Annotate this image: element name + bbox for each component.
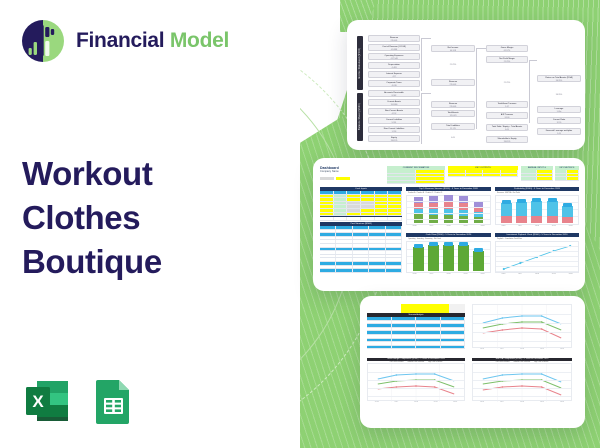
poster-canvas: Financial Model Workout Clothes Boutique… — [0, 0, 600, 448]
tree-node: Current Assets124,886 — [368, 99, 420, 106]
dashboard-chart-cash-flow: Cash Flow ($'000) - 5 Years to December … — [406, 233, 491, 275]
tree-node: Return on Total Assets (ROA)36.35% — [537, 75, 581, 82]
tree-ratio-value: 36.35% — [537, 92, 581, 97]
logo-svg — [20, 18, 66, 64]
page-title-line-3: Boutique — [22, 240, 162, 284]
tree-ratio-value: 21.76% — [486, 80, 528, 85]
dashboard-chart-investment-payback: Investment Payback Chart ($'000) - 5 Yea… — [495, 233, 579, 275]
tree-node: Total Debt / Equity + Total Assets0.09 — [486, 124, 528, 131]
tree-node: Revenue215,601 — [368, 35, 420, 42]
brand-logo: Financial Model — [20, 18, 229, 64]
page-title-line-2: Clothes — [22, 196, 162, 240]
tree-node: Total Assets129,078 — [431, 110, 475, 117]
tree-node: Interest Expense-227 — [368, 71, 420, 78]
tree-node: Revenue215,601 — [431, 79, 475, 86]
tree-band-income-statement: Income Statement ($'000) — [357, 36, 363, 90]
dashboard-panel-annual-inputs: ANNUAL INPUT & ASSUMPTIONS — [521, 166, 553, 181]
scenario-summary-table: Scenario Analysis — [367, 304, 465, 349]
preview-card-scenarios[interactable]: Scenario Analysis — [360, 296, 585, 428]
tree-node: Current Liabilities9,951 — [368, 117, 420, 124]
tree-ratio-value: 0.09 — [431, 135, 475, 140]
brand-name: Financial Model — [76, 29, 229, 53]
google-sheets-icon — [88, 376, 138, 426]
scenario-chart-revenue: 20162017 20182019 2020 — [472, 304, 572, 350]
brand-name-part2: Model — [170, 29, 229, 52]
tree-node: Gross Margin61.97% — [486, 45, 528, 52]
tree-node: Cost of Revenue (COGS)-81,988 — [368, 44, 420, 51]
tree-node: Leverage1.09x — [537, 106, 581, 113]
file-format-badges: X — [22, 376, 138, 426]
scenario-line-charts-screenshot: Scenario Analysis — [360, 296, 585, 428]
page-title: Workout Clothes Boutique — [22, 152, 162, 284]
svg-text:X: X — [32, 392, 44, 411]
tree-connector — [421, 93, 431, 144]
tree-node: Current Ratio12.55 — [537, 117, 581, 124]
tree-connector — [476, 48, 486, 129]
tree-node: A/R Turnover24.00 — [486, 112, 528, 119]
dashboard-panel-key-metrics: KEY METRICS — [555, 166, 579, 181]
tree-band-balance-sheet: Balance Sheet ($'000) — [357, 93, 363, 141]
financial-model-circle-chart-logo — [20, 18, 66, 64]
tree-node: Financial Leverage multiplier1.09 — [537, 128, 581, 135]
scenario-chart-ebitda: EBITDA Comparison ($'000) - 5 Years to D… — [472, 358, 572, 403]
tree-node: Total Liabilities11,175 — [431, 123, 475, 130]
tree-node: Shareholder's Equity118,235 — [486, 136, 528, 143]
tree-ratio-value: 21.76% — [431, 62, 475, 67]
dashboard-panel-key-outputs: KEY OUTPUTS — [448, 166, 518, 177]
tree-connector — [529, 60, 537, 123]
brand-name-part1: Financial — [76, 29, 170, 52]
financial-dashboard-screenshot: Dashboard Company Name CURRENT INFORMATI… — [313, 158, 585, 291]
dashboard-table-cash-inputs: Cash Inputs — [320, 187, 402, 221]
preview-card-dashboard[interactable]: Dashboard Company Name CURRENT INFORMATI… — [313, 158, 585, 291]
dashboard-chart-revenue-streams: Top 5 Revenue Streams ($'000) - 5 Years … — [406, 187, 491, 227]
tree-node: Total Asset Turnover1.67 — [486, 101, 528, 108]
dupont-analysis-tree-screenshot: Income Statement ($'000) Balance Sheet (… — [347, 20, 585, 150]
dashboard-chart-profitability: Profitability ($'000) - 5 Years to Decem… — [495, 187, 579, 227]
preview-card-dupont-tree[interactable]: Income Statement ($'000) Balance Sheet (… — [347, 20, 585, 150]
tree-node: Operating Expenses-117,548 — [368, 53, 420, 60]
tree-connector — [421, 38, 431, 91]
tree-node: Equity118,235 — [368, 135, 420, 142]
dashboard-table-cost-structure: Cost Structure ($'000) — [320, 222, 402, 273]
dashboard-panel-current-info: CURRENT INFORMATION — [387, 166, 445, 184]
tree-node: Net Income46,918 — [431, 45, 475, 52]
tree-node: Non-Current Liabilities1,224 — [368, 126, 420, 133]
scenario-chart-gross-margin: Gross Margin Comparison ($'000) - 5 Year… — [367, 358, 465, 403]
tree-node: Revenue215,601 — [431, 101, 475, 108]
tree-node: Non-Current Assets4,192 — [368, 108, 420, 115]
tree-node: Corporate Taxes-3,039 — [368, 80, 420, 87]
tree-node: Depreciation-1,481 — [368, 62, 420, 69]
excel-icon: X — [22, 376, 72, 426]
tree-node: Net Profit Margin21.76% — [486, 56, 528, 63]
dashboard-title-block: Dashboard Company Name — [320, 166, 380, 180]
tree-node: Accounts Receivable8,982 — [368, 90, 420, 97]
page-title-line-1: Workout — [22, 152, 162, 196]
